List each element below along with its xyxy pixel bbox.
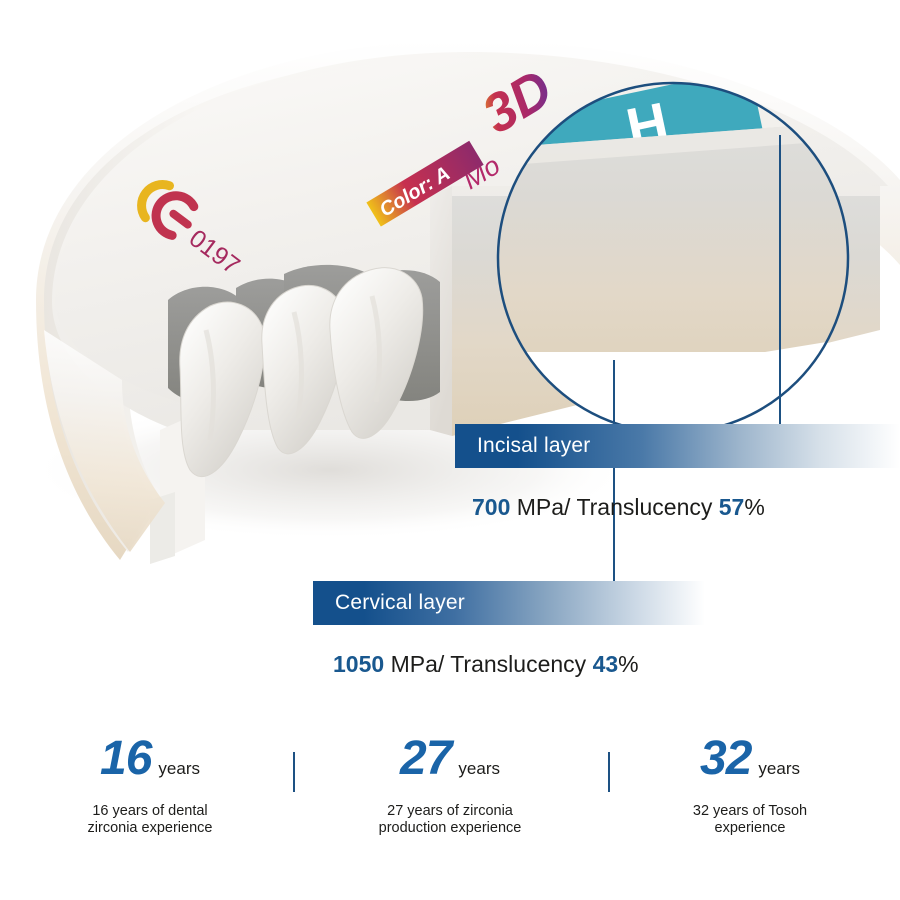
stat-divider-left: [293, 752, 295, 792]
cervical-translucency-value: 43: [593, 651, 619, 677]
cervical-translucency-unit: %: [618, 651, 638, 677]
stat-tosoh-experience: 32 years 32 years of Tosoh experience: [600, 735, 900, 836]
incisal-layer-bar[interactable]: Incisal layer: [455, 424, 900, 468]
cervical-layer-block: Cervical layer 1050 MPa/ Translucency 43…: [313, 581, 705, 678]
stat-dental-zirconia-headline: 16 years: [0, 735, 300, 791]
incisal-translucency-value: 57: [719, 494, 745, 520]
stat-tosoh-experience-number: 32: [700, 735, 751, 783]
disc-svg: 3D — Mo Color: A 0197: [0, 0, 900, 620]
incisal-translucency-unit: %: [744, 494, 764, 520]
cervical-strength-unit: MPa/: [391, 651, 445, 677]
stat-dental-zirconia-description: 16 years of dental zirconia experience: [0, 803, 300, 836]
stat-tosoh-experience-description: 32 years of Tosoh experience: [600, 803, 900, 836]
cervical-strength-value: 1050: [333, 651, 384, 677]
incisal-translucency-label: Translucency: [576, 494, 712, 520]
incisal-layer-label: Incisal layer: [477, 434, 590, 458]
stat-dental-zirconia-unit: years: [158, 759, 200, 779]
stat-zirconia-production: 27 years 27 years of zirconia production…: [300, 735, 600, 836]
stat-zirconia-production-desc-line1: 27 years of zirconia: [300, 803, 600, 820]
incisal-layer-block: Incisal layer 700 MPa/ Translucency 57%: [455, 424, 900, 521]
cervical-layer-label: Cervical layer: [335, 591, 465, 615]
stat-zirconia-production-desc-line2: production experience: [300, 820, 600, 837]
stat-dental-zirconia-number: 16: [100, 735, 151, 783]
cervical-layer-stats: 1050 MPa/ Translucency 43%: [333, 651, 705, 678]
stat-tosoh-experience-unit: years: [758, 759, 800, 779]
stat-zirconia-production-description: 27 years of zirconia production experien…: [300, 803, 600, 836]
experience-stats-row: 16 years 16 years of dental zirconia exp…: [0, 735, 900, 865]
stat-tosoh-experience-headline: 32 years: [600, 735, 900, 791]
stat-zirconia-production-number: 27: [400, 735, 451, 783]
incisal-strength-value: 700: [472, 494, 510, 520]
stat-divider-right: [608, 752, 610, 792]
stat-dental-zirconia-desc-line1: 16 years of dental: [0, 803, 300, 820]
zirconia-disc-illustration: 3D — Mo Color: A 0197: [0, 0, 900, 620]
stat-tosoh-experience-desc-line1: 32 years of Tosoh: [600, 803, 900, 820]
callout-line-incisal: [779, 135, 781, 430]
incisal-layer-stats: 700 MPa/ Translucency 57%: [472, 494, 900, 521]
stat-dental-zirconia: 16 years 16 years of dental zirconia exp…: [0, 735, 300, 836]
cervical-layer-bar[interactable]: Cervical layer: [313, 581, 705, 625]
stat-zirconia-production-unit: years: [458, 759, 500, 779]
cervical-translucency-label: Translucency: [450, 651, 586, 677]
magnified-top-word: al: [750, 35, 794, 86]
infographic-root: 3D — Mo Color: A 0197: [0, 0, 900, 900]
incisal-strength-unit: MPa/: [517, 494, 571, 520]
stat-zirconia-production-headline: 27 years: [300, 735, 600, 791]
stat-dental-zirconia-desc-line2: zirconia experience: [0, 820, 300, 837]
stat-tosoh-experience-desc-line2: experience: [600, 820, 900, 837]
